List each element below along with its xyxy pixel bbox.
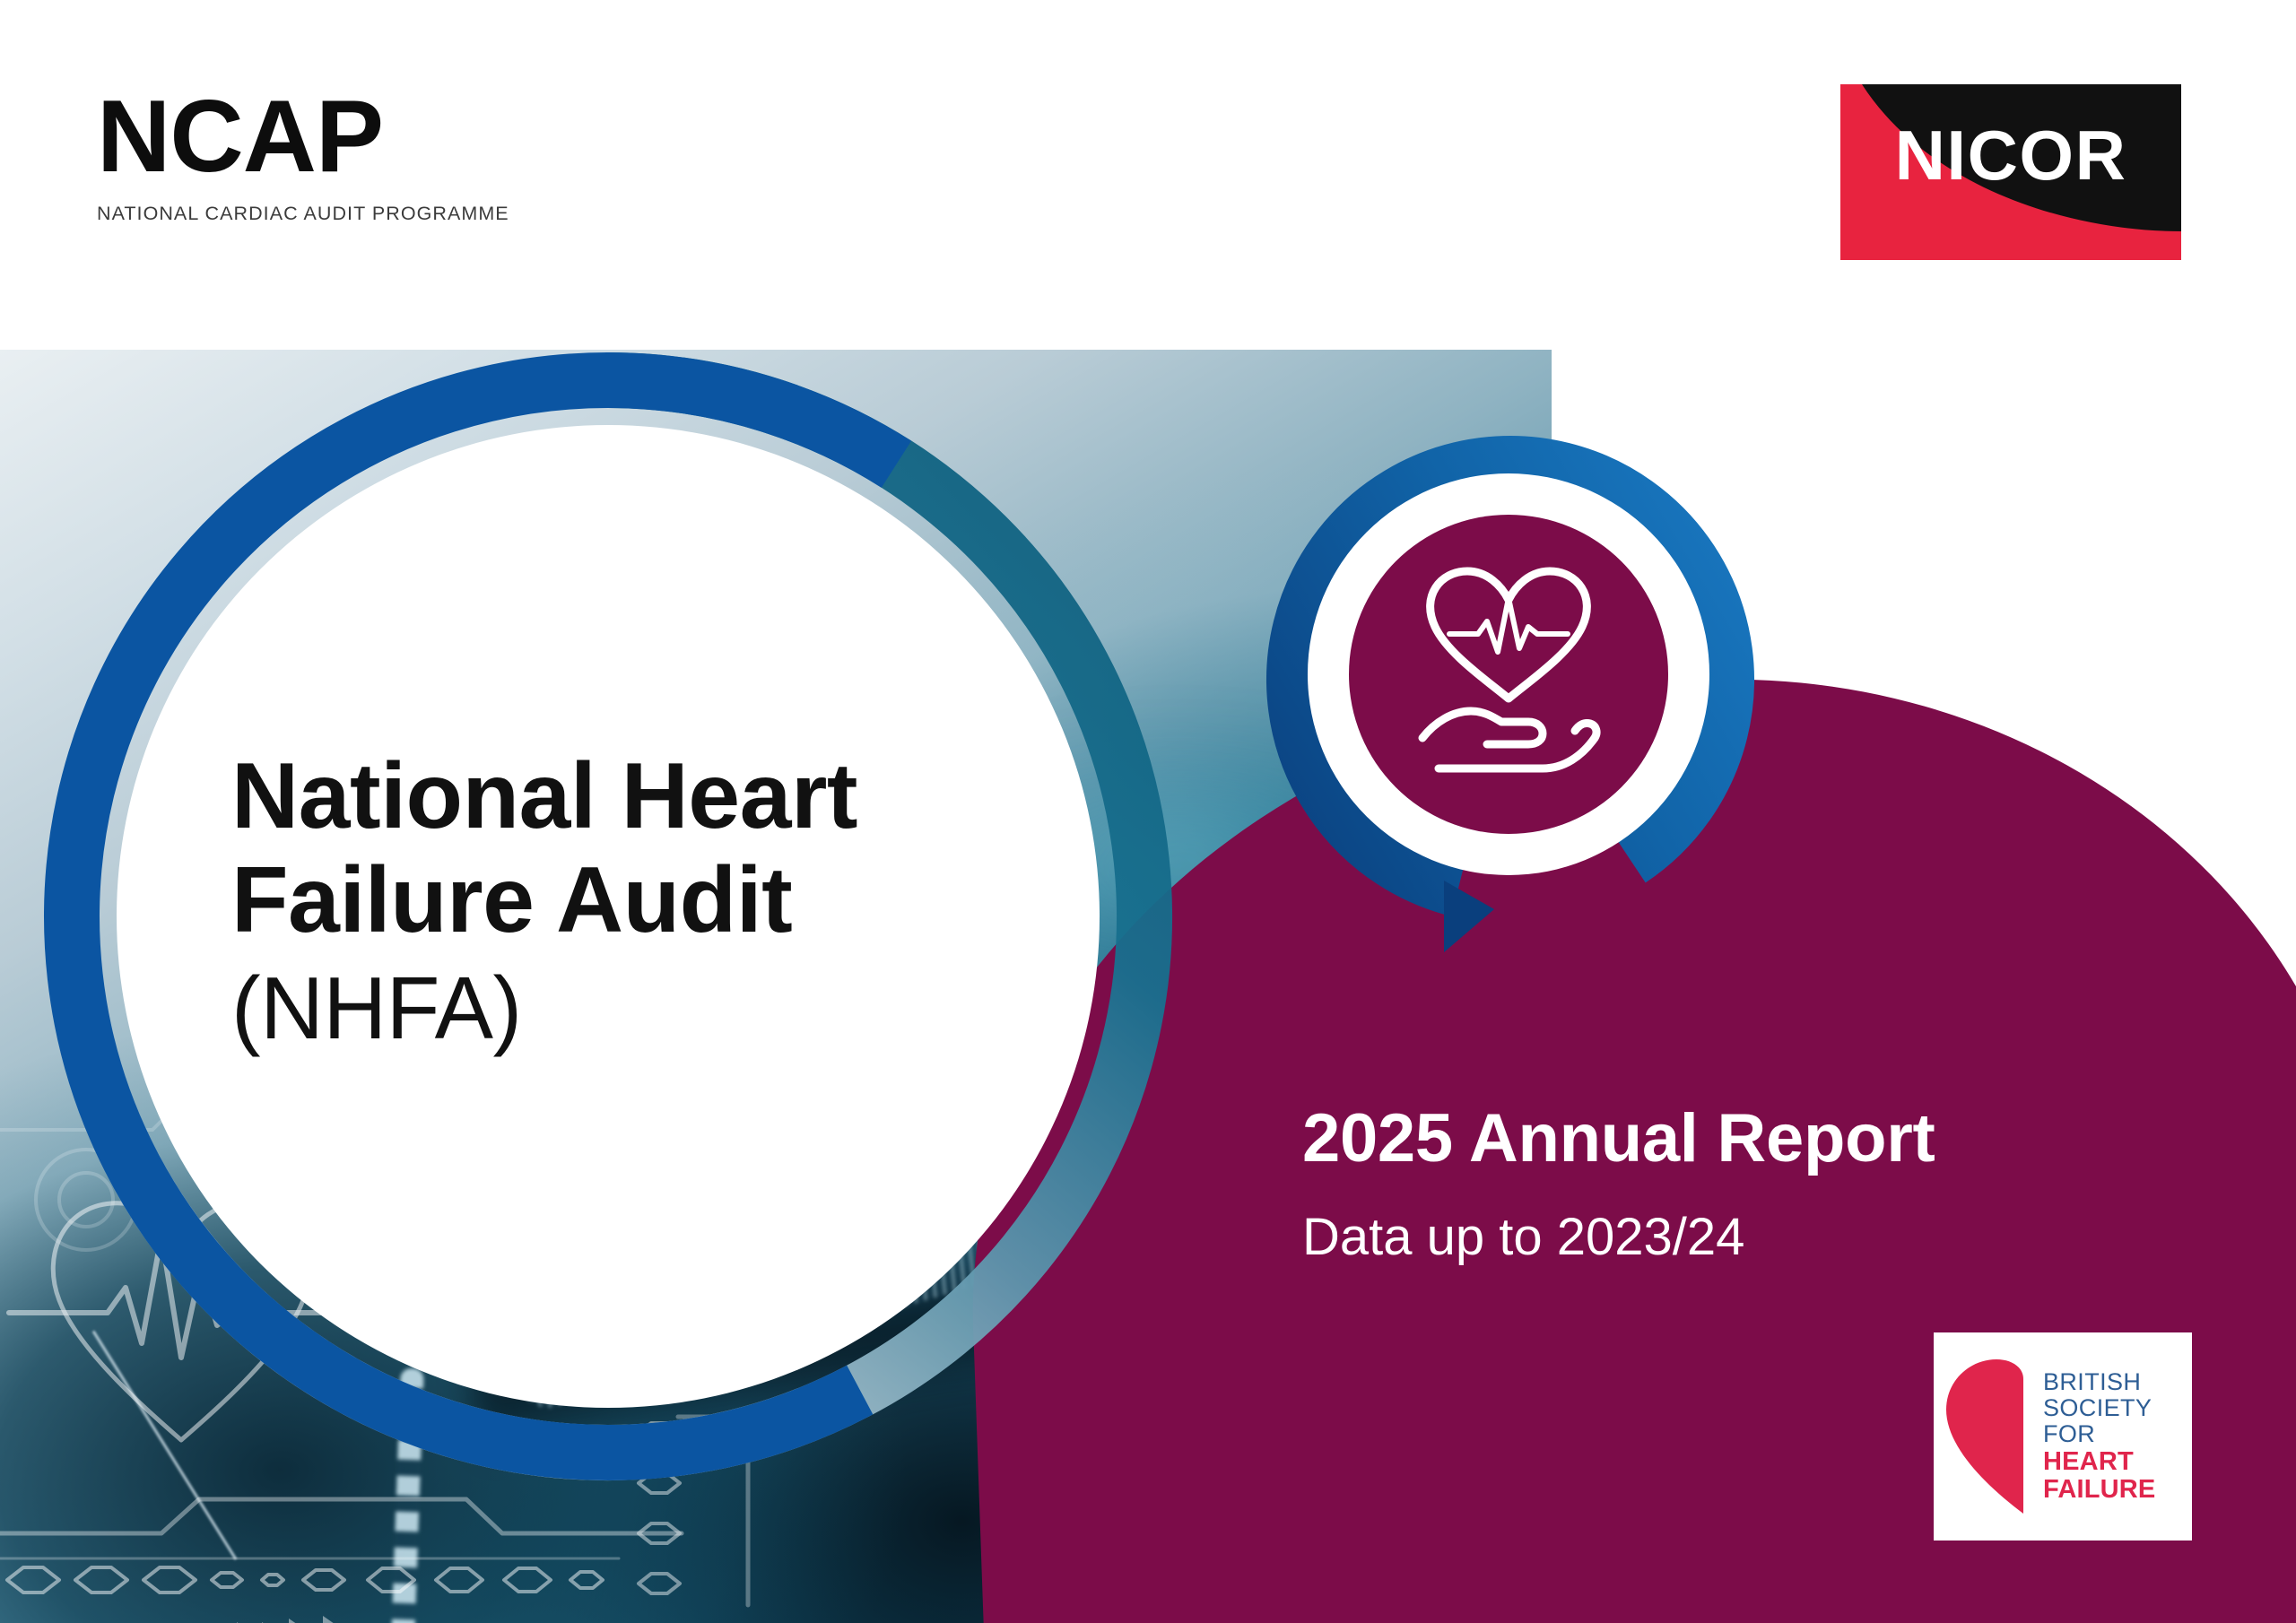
- bsh-line-1: BRITISH: [2043, 1369, 2192, 1395]
- title-line-1: National Heart: [231, 744, 1057, 848]
- heart-in-hand-icon: [1349, 515, 1668, 834]
- report-heading: 2025 Annual Report: [1302, 1101, 2199, 1176]
- bsh-text-block: BRITISH SOCIETY FOR HEART FAILURE: [2031, 1369, 2192, 1505]
- ncap-tagline: NATIONAL CARDIAC AUDIT PROGRAMME: [97, 203, 545, 225]
- nicor-wordmark: NICOR: [1840, 120, 2181, 190]
- nicor-logo: NICOR: [1840, 84, 2181, 260]
- bsh-line-4: HEART: [2043, 1448, 2192, 1476]
- bsh-logo: BRITISH SOCIETY FOR HEART FAILURE: [1934, 1332, 2192, 1541]
- ncap-wordmark: NCAP: [97, 86, 545, 188]
- ncap-logo: NCAP NATIONAL CARDIAC AUDIT PROGRAMME: [97, 86, 545, 225]
- report-info: 2025 Annual Report Data up to 2023/24: [1302, 1101, 2199, 1265]
- bsh-line-2: SOCIETY: [2043, 1395, 2192, 1421]
- bsh-line-5: FAILURE: [2043, 1476, 2192, 1504]
- report-cover-page: NCAP NATIONAL CARDIAC AUDIT PROGRAMME NI…: [0, 0, 2296, 1623]
- title-abbreviation: (NHFA): [231, 960, 1057, 1057]
- bsh-half-heart-icon: [1934, 1332, 2031, 1541]
- title-line-2: Failure Audit: [231, 848, 1057, 952]
- report-subheading: Data up to 2023/24: [1302, 1209, 2199, 1266]
- page-title: National Heart Failure Audit (NHFA): [231, 744, 1057, 1057]
- bsh-line-3: FOR: [2043, 1421, 2192, 1447]
